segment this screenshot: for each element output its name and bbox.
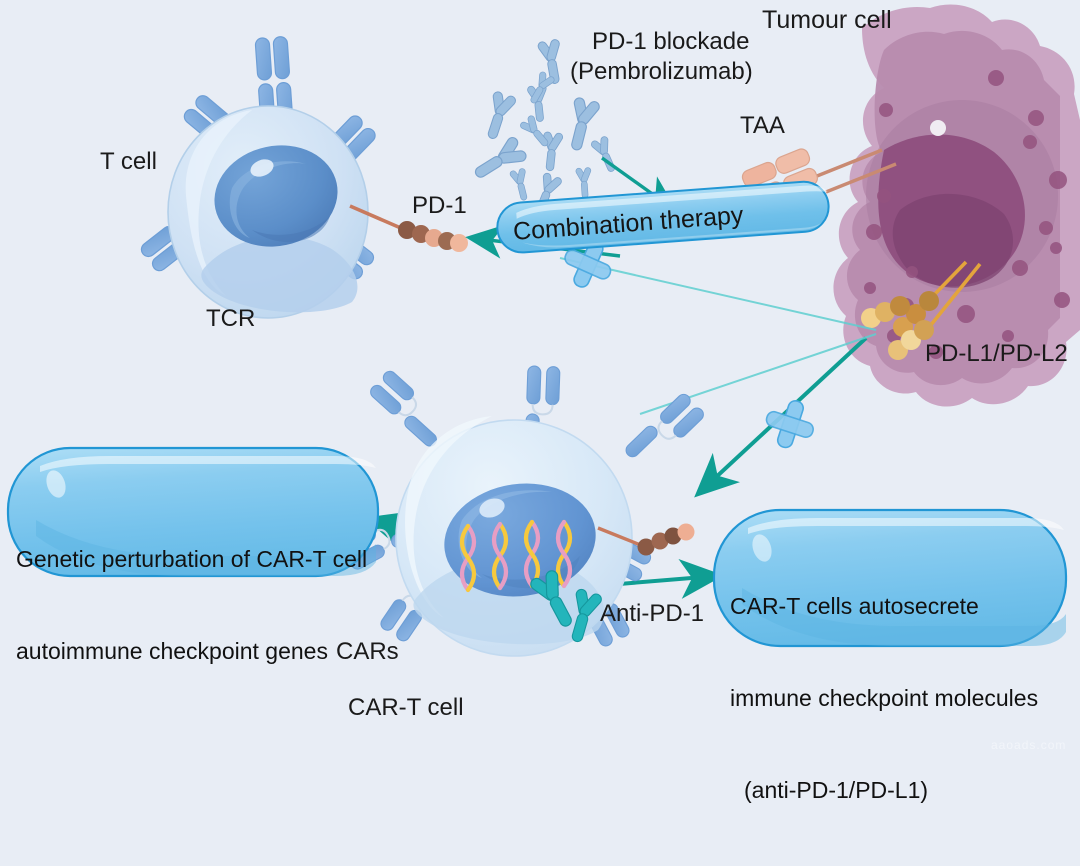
t-cell [139, 36, 378, 318]
label-taa: TAA [740, 112, 785, 140]
label-tumour-cell: Tumour cell [762, 6, 892, 35]
callout-autosecrete-text: CAR-T cells autosecrete immune checkpoin… [730, 530, 1060, 866]
callout-genetic-perturbation-text: Genetic perturbation of CAR-T cell autoi… [16, 483, 372, 728]
label-anti-pd1: Anti-PD-1 [600, 600, 704, 628]
label-pembrolizumab: (Pembrolizumab) [570, 58, 753, 86]
genetic-line-2: autoimmune checkpoint genes [16, 636, 372, 667]
label-t-cell: T cell [100, 148, 157, 176]
autosecrete-line-2: immune checkpoint molecules [730, 683, 1060, 714]
watermark: aaoads.com [991, 738, 1066, 752]
autosecrete-line-3: (anti-PD-1/PD-L1) [730, 775, 1060, 806]
genetic-line-1: Genetic perturbation of CAR-T cell [16, 544, 372, 575]
label-tcr: TCR [206, 305, 255, 333]
autosecrete-line-1: CAR-T cells autosecrete [730, 591, 1060, 622]
label-pd1-blockade: PD-1 blockade [592, 28, 749, 56]
figure-canvas: Tumour cell PD-1 blockade (Pembrolizumab… [0, 0, 1080, 763]
connector-lines [560, 258, 876, 414]
label-pd1: PD-1 [412, 192, 467, 220]
label-pdl1-pdl2: PD-L1/PD-L2 [925, 340, 1068, 368]
